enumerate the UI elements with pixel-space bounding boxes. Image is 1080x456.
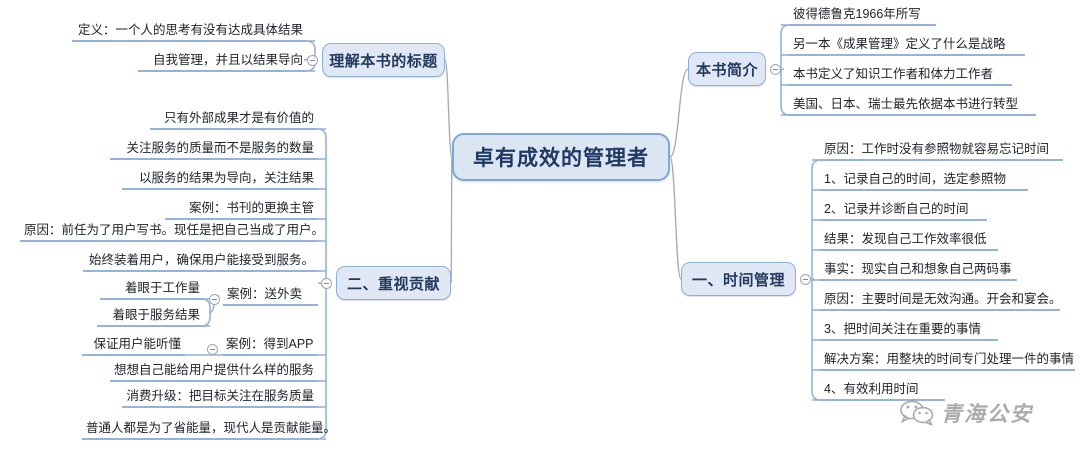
leaf-node[interactable]: 原因：前任为了用户写书。现任是把自己当成了用户。 (20, 222, 318, 242)
wechat-icon (900, 400, 934, 426)
collapse-toggle-contribution[interactable] (321, 278, 332, 289)
leaf-node[interactable]: 3、把时间关注在重要的事情 (820, 321, 998, 341)
leaf-node[interactable]: 本书定义了知识工作者和体力工作者 (789, 66, 1012, 86)
leaf-node[interactable]: 定义：一个人的思考有没有达成具体结果 (72, 22, 307, 42)
leaf-node[interactable]: 只有外部成果才是有价值的 (150, 110, 318, 130)
collapse-toggle-sub-0[interactable] (209, 294, 220, 305)
mindmap-canvas: 卓有成效的管理者 理解本书的标题定义：一个人的思考有没有达成具体结果自我管理，并… (0, 0, 1080, 456)
sub-branch-node[interactable]: 案例：送外卖 (223, 286, 318, 306)
leaf-node[interactable]: 结果：发现自己工作效率很低 (820, 231, 998, 251)
leaf-node[interactable]: 自我管理，并且以结果导向 (138, 52, 307, 72)
watermark-text: 青海公安 (941, 398, 1033, 428)
leaf-node[interactable]: 消费升级：把目标关注在服务质量 (122, 388, 318, 408)
leaf-node[interactable]: 保证用户能听懂 (82, 336, 185, 356)
leaf-node[interactable]: 想想自己能给用户提供什么样的服务 (110, 362, 318, 382)
collapse-toggle-title[interactable] (307, 55, 318, 66)
leaf-node[interactable]: 普通人都是为了省能量，现代人是贡献能量。 (82, 420, 318, 440)
leaf-node[interactable]: 2、记录并诊断自己的时间 (820, 201, 987, 221)
leaf-node[interactable]: 美国、日本、瑞士最先依据本书进行转型 (789, 96, 1036, 116)
watermark: 青海公安 (900, 398, 1033, 428)
leaf-node[interactable]: 原因：工作时没有参照物就容易忘记时间 (820, 141, 1063, 161)
sub-leaf-node[interactable]: 着眼于工作量 (100, 280, 204, 300)
root-node[interactable]: 卓有成效的管理者 (452, 133, 670, 181)
leaf-node[interactable]: 案例：书刊的更换主管 (165, 200, 318, 220)
collapse-toggle-sub-1[interactable] (207, 344, 218, 355)
leaf-node[interactable]: 彼得德鲁克1966年所写 (789, 6, 936, 26)
leaf-node[interactable]: 以服务的结果为导向，关注结果 (122, 170, 318, 190)
branch-node-title[interactable]: 理解本书的标题 (322, 43, 445, 77)
leaf-node[interactable]: 始终装着用户，确保用户能接受到服务。 (83, 252, 318, 272)
sub-leaf-node[interactable]: 着眼于服务结果 (97, 307, 204, 327)
collapse-toggle-time[interactable] (800, 274, 811, 285)
branch-node-time[interactable]: 一、时间管理 (681, 262, 796, 296)
leaf-node[interactable]: 事实：现实自己和想象自己两码事 (820, 261, 1017, 281)
leaf-node[interactable]: 原因：主要时间是无效沟通。开会和宴会。 (820, 291, 1060, 311)
leaf-node[interactable]: 关注服务的质量而不是服务的数量 (110, 140, 318, 160)
branch-node-intro[interactable]: 本书简介 (688, 52, 766, 86)
branch-node-contribution[interactable]: 二、重视贡献 (336, 266, 451, 300)
sub-branch-node[interactable]: 案例：得到APP (222, 336, 318, 356)
leaf-node[interactable]: 另一本《成果管理》定义了什么是战略 (789, 36, 1025, 56)
collapse-toggle-intro[interactable] (770, 64, 781, 75)
leaf-node[interactable]: 解决方案：用整块的时间专门处理一件的事情 (820, 351, 1075, 371)
leaf-node[interactable]: 1、记录自己的时间，选定参照物 (820, 171, 1028, 191)
